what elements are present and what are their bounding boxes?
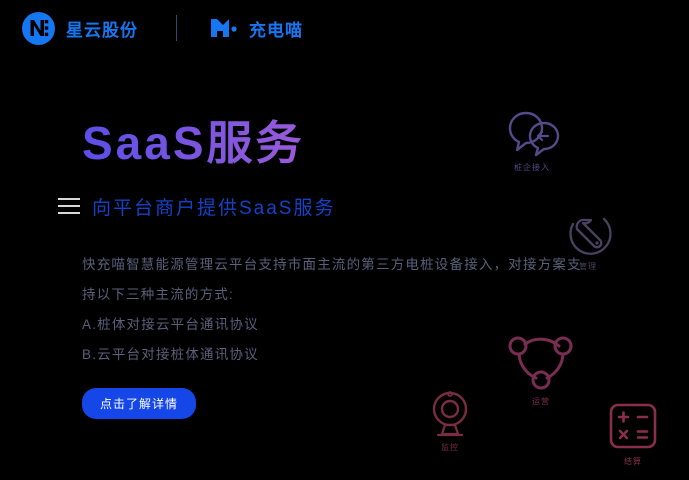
decor-label: 监控 — [441, 442, 459, 453]
decor-item-operation: 运营 — [505, 326, 577, 407]
decor-label: 运营 — [532, 396, 550, 407]
calculator-icon — [607, 402, 659, 452]
brand-primary[interactable]: 星云股份 — [22, 12, 138, 45]
monitor-camera-icon — [427, 390, 473, 438]
body-paragraph: 快充喵智慧能源管理云平台支持市面主流的第三方电桩设备接入，对接方案支持以下三种主… — [82, 250, 582, 310]
hamburger-icon — [58, 198, 80, 214]
decor-label: 管理 — [579, 261, 597, 272]
chat-bubbles-arrow-icon — [500, 102, 564, 158]
decor-item-manage: 管理 — [563, 207, 613, 272]
decor-item-settlement: 结算 — [607, 402, 659, 467]
brand-secondary-name: 充电喵 — [249, 16, 303, 41]
network-nodes-icon — [505, 326, 577, 392]
brand-secondary[interactable]: 充电喵 — [209, 16, 303, 41]
decor-item-monitor: 监控 — [427, 390, 473, 453]
brand-primary-name: 星云股份 — [66, 16, 138, 41]
decor-label: 结算 — [624, 456, 642, 467]
learn-more-button[interactable]: 点击了解详情 — [82, 388, 196, 419]
hero-subtitle: 向平台商户提供SaaS服务 — [92, 193, 335, 220]
decor-item-chat: 桩企接入 — [500, 102, 564, 173]
decor-label: 桩企接入 — [514, 162, 550, 173]
wrench-circle-icon — [563, 207, 613, 257]
page-header: 星云股份 充电喵 — [0, 0, 689, 56]
cat-speaker-icon — [209, 16, 241, 40]
hero-subtitle-row: 向平台商户提供SaaS服务 — [58, 193, 602, 220]
header-divider — [176, 15, 177, 41]
ne-monogram-circle-icon — [22, 12, 55, 45]
